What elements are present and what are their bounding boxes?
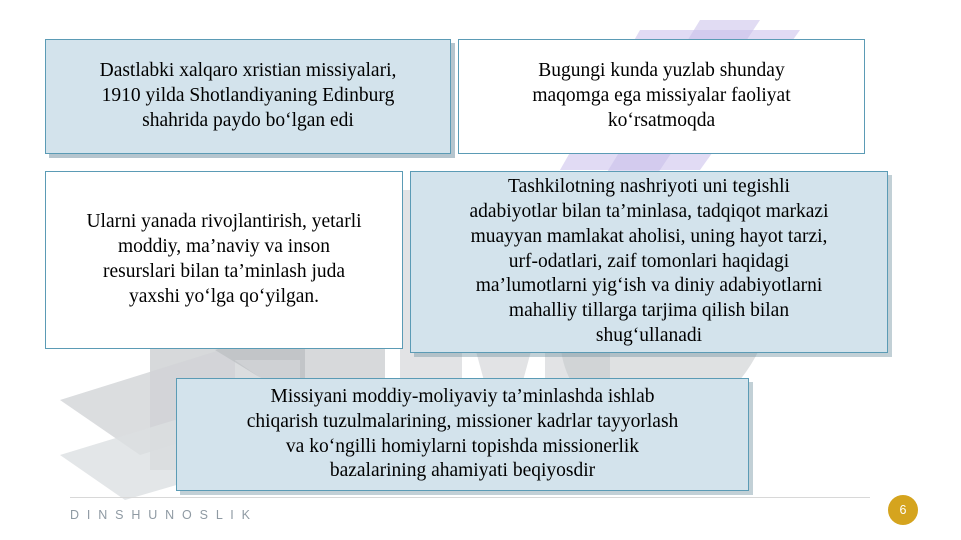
content-box-2: Bugungi kunda yuzlab shunday maqomga ega…: [458, 39, 865, 154]
content-box-3-text: Ularni yanada rivojlantirish, yetarli mo…: [46, 210, 402, 310]
content-box-5: Missiyani moddiy-moliyaviy ta’minlashda …: [176, 378, 749, 491]
footer-label: D I N S H U N O S L I K: [70, 508, 252, 522]
slide: Dastlabki xalqaro xristian missiyalari, …: [0, 0, 961, 540]
page-number-badge: 6: [888, 495, 918, 525]
content-box-1-text: Dastlabki xalqaro xristian missiyalari, …: [46, 59, 450, 134]
content-box-1: Dastlabki xalqaro xristian missiyalari, …: [45, 39, 451, 154]
content-box-3: Ularni yanada rivojlantirish, yetarli mo…: [45, 171, 403, 349]
content-box-5-text: Missiyani moddiy-moliyaviy ta’minlashda …: [177, 385, 748, 485]
content-box-4: Tashkilotning nashriyoti uni tegishli ad…: [410, 171, 888, 353]
footer-divider: [70, 497, 870, 498]
content-box-2-text: Bugungi kunda yuzlab shunday maqomga ega…: [459, 59, 864, 134]
content-box-4-text: Tashkilotning nashriyoti uni tegishli ad…: [411, 175, 887, 350]
